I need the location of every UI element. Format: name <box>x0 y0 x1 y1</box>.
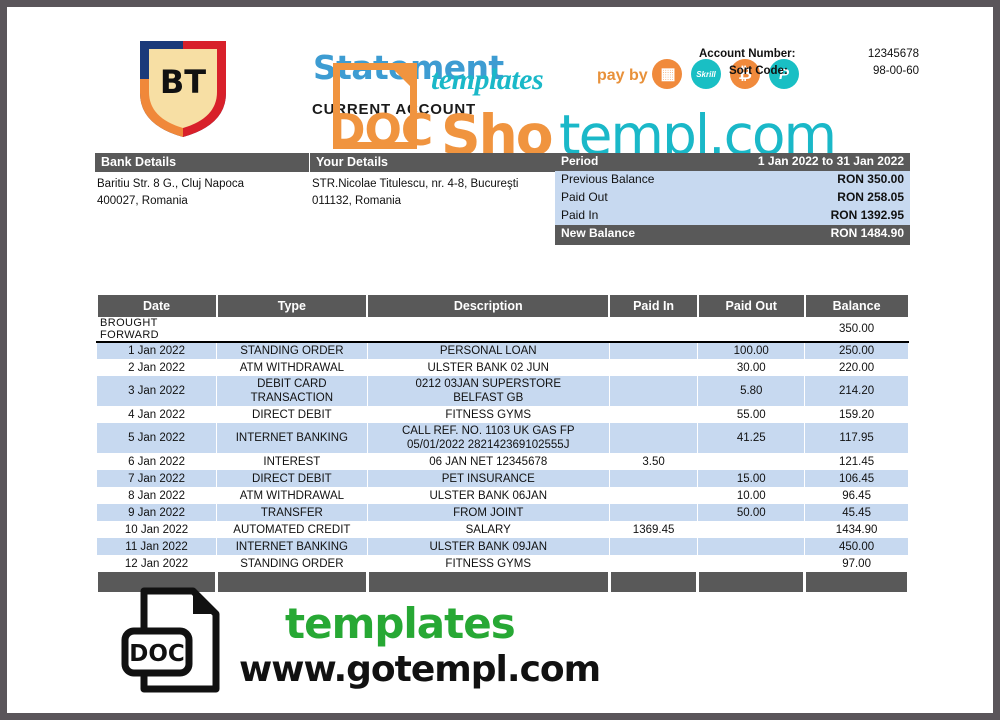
cell-paid-out: 50.00 <box>698 504 805 521</box>
cell-paid-in <box>609 342 698 359</box>
cell-paid-in <box>609 487 698 504</box>
cell-paid-in <box>609 376 698 406</box>
cell-paid-out: 10.00 <box>698 487 805 504</box>
statement-page: BT Statement templates CURRENT ACCOUNT p… <box>0 0 1000 720</box>
table-header-row: Date Type Description Paid In Paid Out B… <box>97 295 909 317</box>
bank-details-panel: Bank Details Baritiu Str. 8 G., Cluj Nap… <box>95 153 309 210</box>
brought-forward-paid-in <box>609 317 698 342</box>
cell-type: TRANSFER <box>217 504 368 521</box>
table-row: 9 Jan 2022TRANSFERFROM JOINT50.0045.45 <box>97 504 909 521</box>
watermark-doc-text: DOC <box>329 105 432 156</box>
your-address-line1: STR.Nicolae Titulescu, nr. 4-8, Bucureşt… <box>312 176 551 193</box>
cell-type: INTERNET BANKING <box>217 538 368 555</box>
period-row: Period 1 Jan 2022 to 31 Jan 2022 <box>555 153 910 171</box>
cell-paid-in <box>609 470 698 487</box>
brought-forward-label: BROUGHT FORWARD <box>97 317 217 342</box>
cell-paid-out <box>698 521 805 538</box>
period-label: Period <box>561 154 598 168</box>
bank-details-body: Baritiu Str. 8 G., Cluj Napoca 400027, R… <box>95 172 309 210</box>
cell-date: 7 Jan 2022 <box>97 470 217 487</box>
table-row: 4 Jan 2022DIRECT DEBITFITNESS GYMS55.001… <box>97 406 909 423</box>
column-header-date: Date <box>97 295 217 317</box>
cell-description: FROM JOINT <box>367 504 609 521</box>
statement-header: BT Statement templates CURRENT ACCOUNT p… <box>7 7 993 142</box>
cell-description: 0212 03JAN SUPERSTOREBELFAST GB <box>367 376 609 406</box>
cell-type: ATM WITHDRAWAL <box>217 359 368 376</box>
bt-logo-text: BT <box>160 63 206 101</box>
cell-paid-out: 55.00 <box>698 406 805 423</box>
sort-code-row: Sort Code: 98-00-60 <box>699 65 919 82</box>
cell-type: STANDING ORDER <box>217 555 368 572</box>
cell-paid-out: 100.00 <box>698 342 805 359</box>
column-header-description: Description <box>367 295 609 317</box>
column-header-paid-in: Paid In <box>609 295 698 317</box>
cell-paid-in <box>609 406 698 423</box>
cell-description: FITNESS GYMS <box>367 406 609 423</box>
paid-in-summary-label: Paid In <box>561 208 598 222</box>
cell-paid-out: 41.25 <box>698 423 805 453</box>
previous-balance-label: Previous Balance <box>561 172 654 186</box>
cell-date: 8 Jan 2022 <box>97 487 217 504</box>
cell-paid-out: 30.00 <box>698 359 805 376</box>
paid-out-summary-label: Paid Out <box>561 190 608 204</box>
new-balance-value: RON 1484.90 <box>831 226 904 240</box>
cell-date: 4 Jan 2022 <box>97 406 217 423</box>
brought-forward-paid-out <box>698 317 805 342</box>
brought-forward-description <box>367 317 609 342</box>
cell-type: DEBIT CARDTRANSACTION <box>217 376 368 406</box>
previous-balance-value: RON 350.00 <box>837 172 904 186</box>
table-row: 6 Jan 2022INTEREST06 JAN NET 123456783.5… <box>97 453 909 470</box>
bank-address-line1: Baritiu Str. 8 G., Cluj Napoca <box>97 176 305 193</box>
cell-type: AUTOMATED CREDIT <box>217 521 368 538</box>
cell-date: 6 Jan 2022 <box>97 453 217 470</box>
cell-description: PERSONAL LOAN <box>367 342 609 359</box>
table-row: 8 Jan 2022ATM WITHDRAWALULSTER BANK 06JA… <box>97 487 909 504</box>
paid-out-summary-value: RON 258.05 <box>837 190 904 204</box>
column-header-balance: Balance <box>805 295 909 317</box>
page-footer: DOC templates www.gotempl.com <box>7 585 993 705</box>
cell-balance: 106.45 <box>805 470 909 487</box>
doc-icon-label: DOC <box>129 641 185 667</box>
table-row: 5 Jan 2022INTERNET BANKINGCALL REF. NO. … <box>97 423 909 453</box>
sort-code-label: Sort Code: <box>729 65 788 77</box>
paid-in-summary-row: Paid In RON 1392.95 <box>555 207 910 225</box>
cell-description: PET INSURANCE <box>367 470 609 487</box>
footer-templates-text: templates <box>285 599 515 648</box>
cell-paid-in <box>609 359 698 376</box>
your-details-panel: Your Details STR.Nicolae Titulescu, nr. … <box>310 153 555 210</box>
bank-details-header: Bank Details <box>95 153 309 172</box>
brand-templates-text: templates <box>431 63 543 97</box>
cell-date: 2 Jan 2022 <box>97 359 217 376</box>
cell-date: 3 Jan 2022 <box>97 376 217 406</box>
webmoney-icon: ▦ <box>652 59 682 89</box>
brought-forward-type <box>217 317 368 342</box>
cell-paid-in: 3.50 <box>609 453 698 470</box>
cell-paid-out <box>698 453 805 470</box>
cell-type: INTERNET BANKING <box>217 423 368 453</box>
doc-file-icon: DOC <box>119 585 223 695</box>
table-body: BROUGHT FORWARD 350.00 1 Jan 2022STANDIN… <box>97 317 909 572</box>
cell-balance: 159.20 <box>805 406 909 423</box>
paid-in-summary-value: RON 1392.95 <box>831 208 904 222</box>
cell-description: 06 JAN NET 12345678 <box>367 453 609 470</box>
cell-balance: 1434.90 <box>805 521 909 538</box>
cell-date: 5 Jan 2022 <box>97 423 217 453</box>
account-info: Account Number: 12345678 Sort Code: 98-0… <box>699 48 919 82</box>
cell-balance: 250.00 <box>805 342 909 359</box>
cell-type: STANDING ORDER <box>217 342 368 359</box>
watermark-doc-fold-icon <box>387 63 417 93</box>
cell-description: ULSTER BANK 09JAN <box>367 538 609 555</box>
cell-paid-in <box>609 423 698 453</box>
new-balance-row: New Balance RON 1484.90 <box>555 225 910 245</box>
transactions-table: Date Type Description Paid In Paid Out B… <box>95 295 910 592</box>
account-number-label: Account Number: <box>699 48 795 60</box>
cell-description: ULSTER BANK 02 JUN <box>367 359 609 376</box>
table-row: 3 Jan 2022DEBIT CARDTRANSACTION0212 03JA… <box>97 376 909 406</box>
cell-type: INTEREST <box>217 453 368 470</box>
brought-forward-row: BROUGHT FORWARD 350.00 <box>97 317 909 342</box>
cell-description: FITNESS GYMS <box>367 555 609 572</box>
cell-paid-in <box>609 504 698 521</box>
table-row: 10 Jan 2022AUTOMATED CREDITSALARY1369.45… <box>97 521 909 538</box>
bank-address-line2: 400027, Romania <box>97 193 305 210</box>
cell-paid-in: 1369.45 <box>609 521 698 538</box>
sort-code-value: 98-00-60 <box>873 65 919 77</box>
cell-paid-out <box>698 538 805 555</box>
cell-balance: 97.00 <box>805 555 909 572</box>
your-details-header: Your Details <box>310 153 555 172</box>
cell-type: ATM WITHDRAWAL <box>217 487 368 504</box>
account-number-row: Account Number: 12345678 <box>699 48 919 65</box>
new-balance-label: New Balance <box>561 226 635 240</box>
cell-type: DIRECT DEBIT <box>217 470 368 487</box>
cell-paid-out: 5.80 <box>698 376 805 406</box>
cell-description: CALL REF. NO. 1103 UK GAS FP05/01/2022 2… <box>367 423 609 453</box>
cell-balance: 121.45 <box>805 453 909 470</box>
cell-description: SALARY <box>367 521 609 538</box>
cell-paid-out <box>698 555 805 572</box>
your-details-body: STR.Nicolae Titulescu, nr. 4-8, Bucureşt… <box>310 172 555 210</box>
period-value: 1 Jan 2022 to 31 Jan 2022 <box>758 154 904 168</box>
cell-paid-in <box>609 538 698 555</box>
paid-out-summary-row: Paid Out RON 258.05 <box>555 189 910 207</box>
table-row: 2 Jan 2022ATM WITHDRAWALULSTER BANK 02 J… <box>97 359 909 376</box>
table-row: 7 Jan 2022DIRECT DEBITPET INSURANCE15.00… <box>97 470 909 487</box>
cell-description: ULSTER BANK 06JAN <box>367 487 609 504</box>
table-row: 12 Jan 2022STANDING ORDERFITNESS GYMS97.… <box>97 555 909 572</box>
cell-date: 10 Jan 2022 <box>97 521 217 538</box>
cell-balance: 220.00 <box>805 359 909 376</box>
pay-by-label: pay by <box>597 67 648 85</box>
cell-paid-in <box>609 555 698 572</box>
table-row: 11 Jan 2022INTERNET BANKINGULSTER BANK 0… <box>97 538 909 555</box>
cell-balance: 450.00 <box>805 538 909 555</box>
cell-date: 1 Jan 2022 <box>97 342 217 359</box>
cell-balance: 96.45 <box>805 487 909 504</box>
cell-date: 9 Jan 2022 <box>97 504 217 521</box>
cell-paid-out: 15.00 <box>698 470 805 487</box>
your-address-line2: 011132, Romania <box>312 193 551 210</box>
bt-bank-logo: BT <box>134 35 232 141</box>
cell-date: 11 Jan 2022 <box>97 538 217 555</box>
account-number-value: 12345678 <box>868 48 919 60</box>
balance-summary-panel: Period 1 Jan 2022 to 31 Jan 2022 Previou… <box>555 153 910 245</box>
column-header-type: Type <box>217 295 368 317</box>
footer-url-text: www.gotempl.com <box>239 649 600 690</box>
table-row: 1 Jan 2022STANDING ORDERPERSONAL LOAN100… <box>97 342 909 359</box>
cell-date: 12 Jan 2022 <box>97 555 217 572</box>
brought-forward-balance: 350.00 <box>805 317 909 342</box>
previous-balance-row: Previous Balance RON 350.00 <box>555 171 910 189</box>
column-header-paid-out: Paid Out <box>698 295 805 317</box>
cell-balance: 214.20 <box>805 376 909 406</box>
cell-balance: 45.45 <box>805 504 909 521</box>
cell-balance: 117.95 <box>805 423 909 453</box>
cell-type: DIRECT DEBIT <box>217 406 368 423</box>
